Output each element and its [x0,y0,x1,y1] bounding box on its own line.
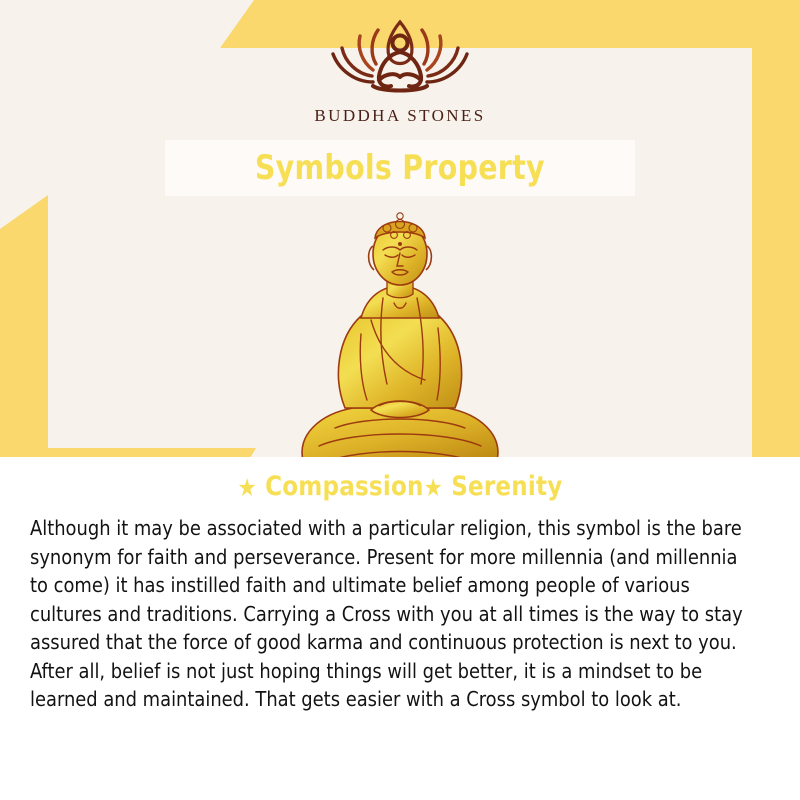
content-subtitle: ★ Compassion★ Serenity [41,457,759,502]
page-title: Symbols Property [255,148,545,188]
poster-canvas: BUDDHA STONES Symbols Property [0,0,800,800]
brand-logo: BUDDHA STONES [0,14,800,126]
seated-golden-buddha-statue-icon [275,198,525,498]
brand-name: BUDDHA STONES [314,106,485,126]
lotus-meditation-figure-icon [315,14,485,102]
subtitle-word-serenity: Serenity [451,471,562,502]
star-icon-2: ★ [424,473,443,502]
star-icon-1: ★ [238,473,257,502]
content-panel: ★ Compassion★ Serenity Although it may b… [0,457,800,800]
title-banner: Symbols Property [165,140,635,196]
content-paragraph: Although it may be associated with a par… [30,514,748,714]
subtitle-word-compassion: Compassion [265,471,424,502]
